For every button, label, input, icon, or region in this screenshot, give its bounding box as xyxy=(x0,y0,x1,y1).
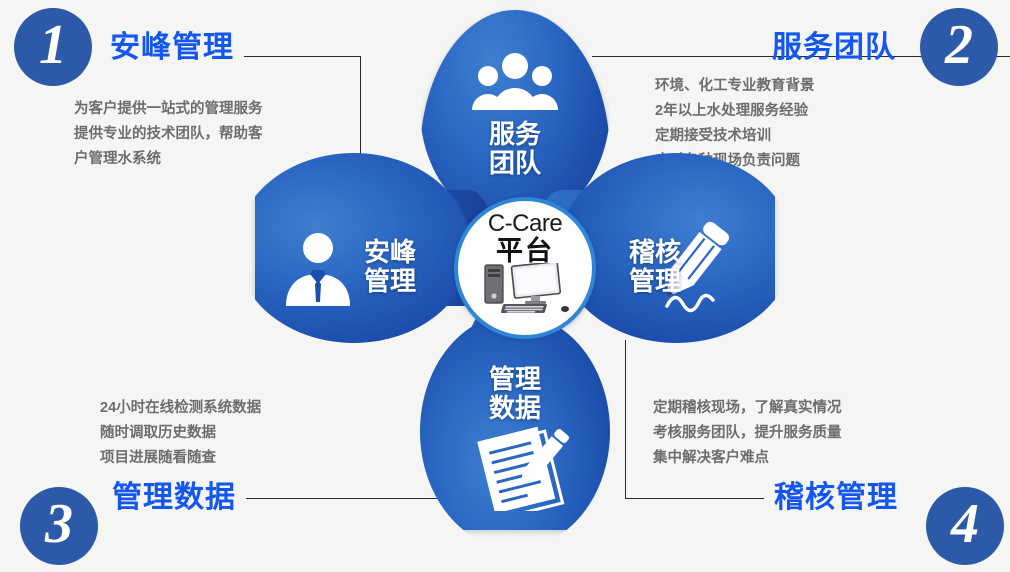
desktop-computer-icon xyxy=(481,263,569,315)
step-number-badge-2: 2 xyxy=(920,8,998,86)
quadrant-description-3: 24小时在线检测系统数据 随时调取历史数据 项目进展随看随查 xyxy=(100,396,261,471)
infographic-canvas: 1 2 3 4 安峰管理 服务团队 管理数据 稽核管理 为客户提供一站式的管理服… xyxy=(0,0,1010,572)
petal-label-anfeng-management: 安峰 管理 xyxy=(335,238,445,296)
petal-label-audit-management: 稽核 管理 xyxy=(600,238,710,296)
description-line: 户管理水系统 xyxy=(74,147,263,172)
description-line: 项目进展随看随查 xyxy=(100,446,261,471)
quadrant-description-1: 为客户提供一站式的管理服务 提供专业的技术团队，帮助客 户管理水系统 xyxy=(74,97,263,172)
petal-label-management-data: 管理 数据 xyxy=(420,365,610,423)
clipboard-pencil-icon xyxy=(477,425,573,511)
flower-diagram: 服务 团队 安峰 管理 xyxy=(255,10,795,530)
description-line: 提供专业的技术团队，帮助客 xyxy=(74,122,263,147)
hub-title: C-Care xyxy=(488,211,562,237)
petal-label-service-team: 服务 团队 xyxy=(420,120,610,178)
quadrant-title-1: 安峰管理 xyxy=(110,22,234,66)
center-hub[interactable]: C-Care 平台 xyxy=(454,197,596,339)
description-line: 随时调取历史数据 xyxy=(100,421,261,446)
step-number-badge-4: 4 xyxy=(926,487,1004,565)
quadrant-title-3: 管理数据 xyxy=(112,472,236,516)
step-number-badge-3: 3 xyxy=(20,487,98,565)
description-line: 24小时在线检测系统数据 xyxy=(100,396,261,421)
step-number-badge-1: 1 xyxy=(14,8,92,86)
description-line: 为客户提供一站式的管理服务 xyxy=(74,97,263,122)
hub-subtitle: 平台 xyxy=(496,237,554,265)
people-group-icon xyxy=(470,52,560,110)
